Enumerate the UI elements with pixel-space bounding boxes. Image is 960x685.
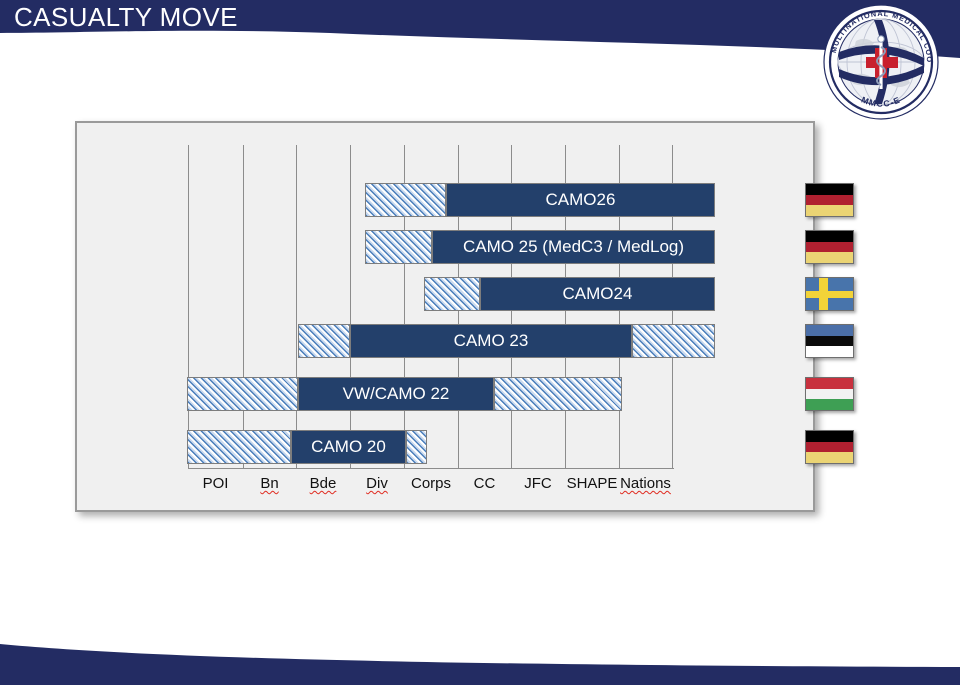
bar-segment-hatched	[187, 377, 298, 411]
axis-label-poi: POI	[188, 473, 243, 495]
bar-segment-hatched	[365, 183, 446, 217]
x-axis-line	[188, 468, 674, 469]
bar-row[interactable]: CAMO 20	[77, 430, 813, 464]
bar-segment-hatched	[365, 230, 432, 264]
bar-segment-hatched	[424, 277, 480, 311]
bar-segment-hatched	[632, 324, 715, 358]
mmcc-e-logo-icon: MULTINATIONAL MEDICAL COORDINATION CENTR…	[822, 3, 940, 121]
bar-segment-solid	[291, 430, 406, 464]
flag-hungary	[805, 377, 854, 411]
bar-segment-solid	[298, 377, 494, 411]
flag-germany	[805, 430, 854, 464]
footer-band	[0, 625, 960, 685]
axis-label-div: Div	[350, 473, 404, 495]
bar-segment-hatched	[494, 377, 622, 411]
plot-area: CAMO26CAMO 25 (MedC3 / MedLog)CAMO24CAMO…	[77, 123, 813, 510]
flag-germany	[805, 230, 854, 264]
bar-segment-solid	[480, 277, 715, 311]
axis-label-bn: Bn	[243, 473, 296, 495]
axis-label-jfc: JFC	[511, 473, 565, 495]
axis-label-corps: Corps	[404, 473, 458, 495]
bar-segment-hatched	[187, 430, 291, 464]
flag-sweden	[805, 277, 854, 311]
bar-segment-solid	[350, 324, 632, 358]
bar-row[interactable]: CAMO26	[77, 183, 813, 217]
page-title: CASUALTY MOVE	[14, 2, 238, 32]
bar-segment-solid	[446, 183, 715, 217]
bar-row[interactable]: CAMO 25 (MedC3 / MedLog)	[77, 230, 813, 264]
axis-label-nations: Nations	[619, 473, 672, 495]
bar-segment-hatched	[406, 430, 427, 464]
bar-row[interactable]: CAMO24	[77, 277, 813, 311]
axis-label-shape: SHAPE	[565, 473, 619, 495]
flag-germany	[805, 183, 854, 217]
bar-row[interactable]: VW/CAMO 22	[77, 377, 813, 411]
chart-panel: CAMO26CAMO 25 (MedC3 / MedLog)CAMO24CAMO…	[75, 121, 815, 512]
axis-label-bde: Bde	[296, 473, 350, 495]
bar-row[interactable]: CAMO 23	[77, 324, 813, 358]
bar-segment-hatched	[298, 324, 350, 358]
axis-label-cc: CC	[458, 473, 511, 495]
bar-segment-solid	[432, 230, 715, 264]
flag-estonia	[805, 324, 854, 358]
